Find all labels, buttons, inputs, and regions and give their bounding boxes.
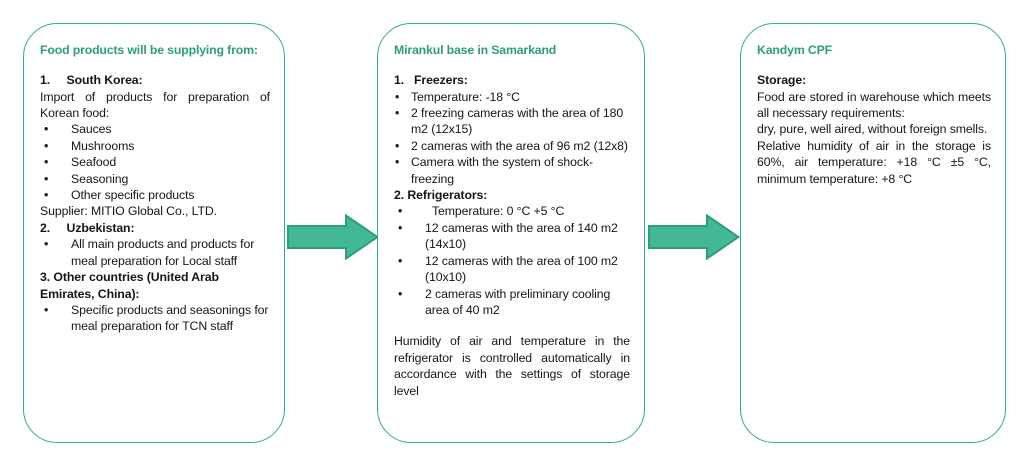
list-item: Other specific products	[40, 187, 270, 203]
list-item: 12 cameras with the area of 100 m2 (10x1…	[394, 253, 630, 286]
list-item: 2 freezing cameras with the area of 180 …	[394, 105, 630, 138]
arrow-box2-to-box3	[648, 214, 740, 260]
box3-storage-heading: Storage:	[757, 72, 991, 88]
box1-section3-list: Specific products and seasonings for mea…	[40, 302, 270, 335]
box1-section1-heading: 1. South Korea:	[40, 72, 270, 88]
list-item: Sauces	[40, 121, 270, 137]
list-item: Specific products and seasonings for mea…	[40, 302, 270, 335]
box1-section2-list: All main products and products for meal …	[40, 236, 270, 269]
box2-body: 1. Freezers: Temperature: -18 °C 2 freez…	[394, 72, 630, 399]
box3-paragraph-3: Relative humidity of air in the storage …	[757, 138, 991, 187]
box2-title: Mirankul base in Samarkand	[394, 42, 630, 58]
process-box-mirankul-base[interactable]: Mirankul base in Samarkand 1. Freezers: …	[377, 23, 645, 443]
box3-paragraph-1: Food are stored in warehouse which meets…	[757, 89, 991, 122]
box2-refrigerators-list: Temperature: 0 °C +5 °C 12 cameras with …	[394, 203, 630, 318]
list-item: Camera with the system of shock-freezing	[394, 154, 630, 187]
box1-section1-list: Sauces Mushrooms Seafood Seasoning Other…	[40, 121, 270, 203]
box1-section1-intro: Import of products for preparation of Ko…	[40, 89, 270, 122]
box2-section2-heading: 2. Refrigerators:	[394, 187, 630, 203]
process-box-kandym-cpf[interactable]: Kandym CPF Storage: Food are stored in w…	[740, 23, 1006, 443]
list-item: 2 cameras with preliminary cooling area …	[394, 286, 630, 319]
box3-body: Storage: Food are stored in warehouse wh…	[757, 72, 991, 187]
box2-note: Humidity of air and temperature in the r…	[394, 333, 630, 399]
box1-content: Food products will be supplying from: 1.…	[24, 24, 284, 442]
box3-content: Kandym CPF Storage: Food are stored in w…	[741, 24, 1005, 442]
list-item: All main products and products for meal …	[40, 236, 270, 269]
box2-content: Mirankul base in Samarkand 1. Freezers: …	[378, 24, 644, 442]
box1-section3-heading: 3. Other countries (United Arab Emirates…	[40, 269, 270, 302]
list-item: 12 cameras with the area of 140 m2 (14x1…	[394, 220, 630, 253]
list-item: Mushrooms	[40, 138, 270, 154]
box2-section1-heading: 1. Freezers:	[394, 72, 630, 88]
box1-title: Food products will be supplying from:	[40, 42, 270, 58]
list-item: Temperature: 0 °C +5 °C	[394, 203, 630, 219]
diagram-canvas: Food products will be supplying from: 1.…	[0, 0, 1029, 468]
process-box-food-products[interactable]: Food products will be supplying from: 1.…	[23, 23, 285, 443]
box1-supplier: Supplier: MITIO Global Co., LTD.	[40, 203, 270, 219]
box2-spacer	[394, 318, 630, 333]
box1-section2-heading: 2. Uzbekistan:	[40, 220, 270, 236]
list-item: Seasoning	[40, 171, 270, 187]
list-item: Temperature: -18 °C	[394, 89, 630, 105]
box3-paragraph-2: dry, pure, well aired, without foreign s…	[757, 121, 991, 137]
list-item: 2 cameras with the area of 96 m2 (12x8)	[394, 138, 630, 154]
arrow-box1-to-box2	[287, 214, 379, 260]
box3-title: Kandym CPF	[757, 42, 991, 58]
box2-freezers-list: Temperature: -18 °C 2 freezing cameras w…	[394, 89, 630, 187]
box1-body: 1. South Korea: Import of products for p…	[40, 72, 270, 335]
list-item: Seafood	[40, 154, 270, 170]
